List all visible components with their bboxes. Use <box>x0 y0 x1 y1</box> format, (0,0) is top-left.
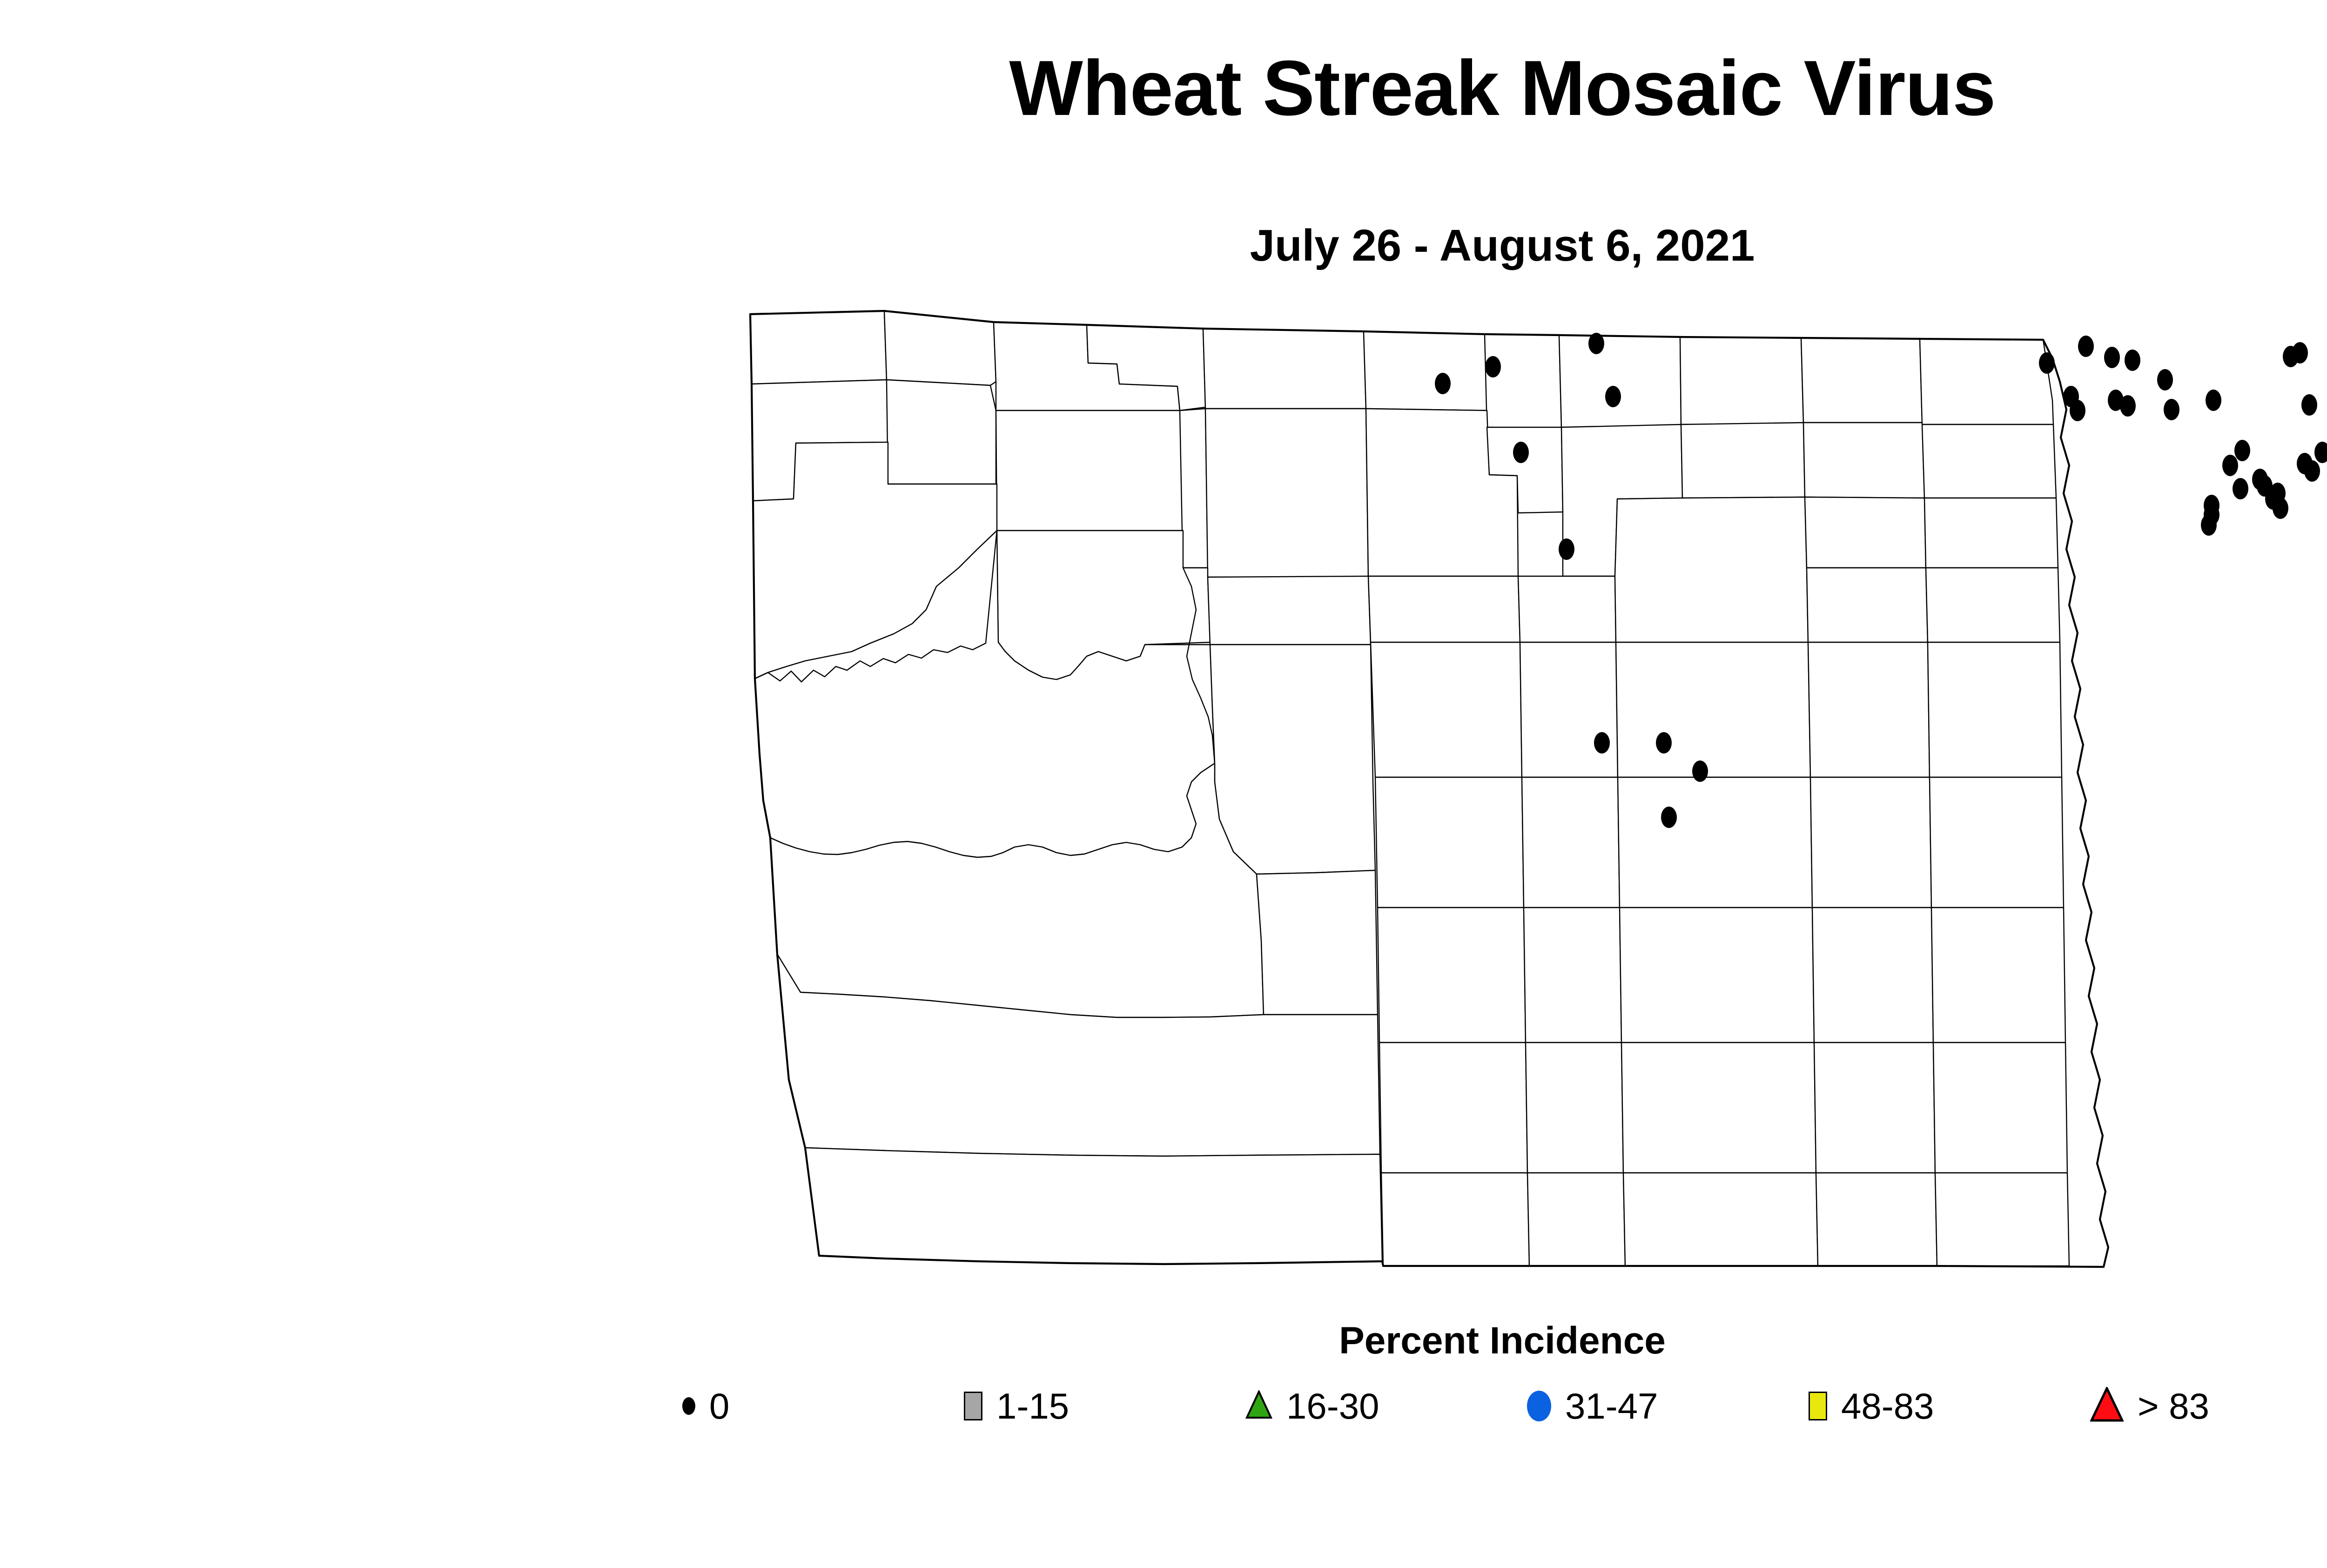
legend-label-31-47: 31-47 <box>1565 1388 1658 1424</box>
sample-point <box>2304 460 2320 482</box>
sample-point <box>1559 538 1574 560</box>
page-title: Wheat Streak Mosaic Virus <box>0 49 2327 127</box>
sample-point <box>2039 352 2055 374</box>
sample-point <box>2070 400 2085 421</box>
sample-point <box>2314 442 2327 463</box>
legend-item-0[interactable]: 0 <box>633 1388 964 1424</box>
map-figure: Wheat Streak Mosaic Virus July 26 - Augu… <box>0 0 2327 1568</box>
legend-label-1-15: 1-15 <box>996 1388 1069 1424</box>
sample-point <box>2234 440 2250 461</box>
legend: Percent Incidence 0 1-15 16-30 31-47 <box>0 1322 2327 1425</box>
sample-point <box>2233 478 2248 499</box>
county-boundaries <box>750 311 2069 1266</box>
sample-point <box>2104 347 2120 368</box>
legend-title: Percent Incidence <box>0 1322 2327 1360</box>
legend-item-48-83[interactable]: 48-83 <box>1809 1388 2090 1424</box>
sample-point <box>1588 333 1604 354</box>
sample-point <box>2078 336 2094 357</box>
legend-label-16-30: 16-30 <box>1286 1388 1379 1424</box>
map-svg <box>652 289 2327 1322</box>
sample-point <box>1605 386 1621 407</box>
sample-point <box>1692 760 1708 782</box>
legend-item-1-15[interactable]: 1-15 <box>964 1388 1245 1424</box>
black-dot-icon <box>682 1397 695 1415</box>
green-triangle-icon <box>1245 1390 1272 1421</box>
sample-point <box>2273 498 2288 519</box>
legend-items: 0 1-15 16-30 31-47 48-83 <box>0 1387 2327 1425</box>
sample-point <box>1435 373 1451 394</box>
gray-square-icon <box>964 1392 982 1420</box>
chart-subtitle: July 26 - August 6, 2021 <box>0 223 2327 268</box>
legend-label-gt-83: > 83 <box>2138 1388 2209 1424</box>
sample-point <box>2222 455 2238 476</box>
sample-point <box>1594 732 1610 754</box>
sample-point <box>2164 399 2179 420</box>
sample-point <box>1513 442 1529 463</box>
north-dakota-county-map <box>652 289 2327 1322</box>
sample-point <box>2301 394 2317 416</box>
legend-item-gt-83[interactable]: > 83 <box>2090 1387 2327 1425</box>
sample-point <box>2201 514 2217 536</box>
sample-point <box>1661 807 1677 828</box>
blue-circle-icon <box>1527 1391 1551 1421</box>
legend-label-48-83: 48-83 <box>1841 1388 1934 1424</box>
legend-label-0: 0 <box>709 1388 729 1424</box>
sample-point <box>2206 390 2221 411</box>
sample-point <box>2125 350 2140 371</box>
legend-item-31-47[interactable]: 31-47 <box>1527 1388 1809 1424</box>
red-triangle-icon <box>2090 1387 2124 1425</box>
sample-point <box>2157 369 2173 390</box>
sample-point <box>2292 342 2308 363</box>
sample-point <box>1656 732 1672 754</box>
sample-point <box>1485 356 1501 377</box>
sample-point <box>2120 395 2136 417</box>
yellow-square-icon <box>1809 1392 1827 1420</box>
legend-item-16-30[interactable]: 16-30 <box>1245 1388 1527 1424</box>
